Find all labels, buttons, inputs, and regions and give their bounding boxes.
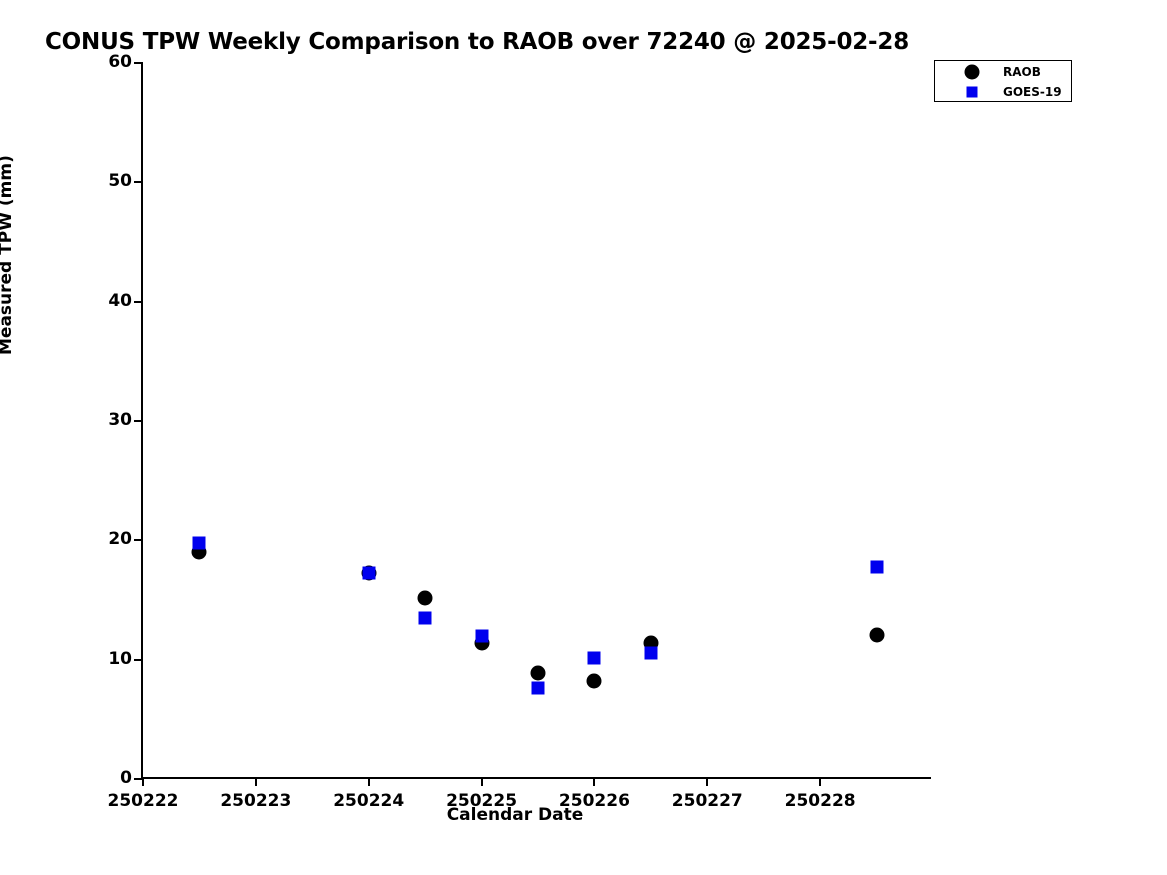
y-axis-label: Measured TPW (mm) xyxy=(0,155,16,355)
x-axis-tick-label: 250227 xyxy=(672,791,743,811)
data-point-goes-19 xyxy=(193,536,206,549)
y-axis-tick xyxy=(134,181,143,183)
x-axis-tick xyxy=(819,777,821,786)
y-axis-tick-label: 40 xyxy=(88,291,132,311)
data-point-goes-19 xyxy=(644,646,657,659)
data-point-goes-19 xyxy=(475,629,488,642)
x-axis-tick xyxy=(593,777,595,786)
data-point-goes-19 xyxy=(362,566,375,579)
x-axis-tick-label: 250226 xyxy=(559,791,630,811)
square-marker-icon xyxy=(957,82,987,102)
x-axis-tick xyxy=(368,777,370,786)
y-axis-tick-label: 20 xyxy=(88,529,132,549)
y-axis-tick-label: 60 xyxy=(88,52,132,72)
x-axis-tick-label: 250223 xyxy=(220,791,291,811)
data-point-goes-19 xyxy=(870,560,883,573)
data-point-goes-19 xyxy=(532,682,545,695)
data-point-raob xyxy=(418,590,433,605)
legend-label: RAOB xyxy=(1003,62,1041,82)
x-axis-tick-label: 250224 xyxy=(333,791,404,811)
y-axis-tick xyxy=(134,301,143,303)
x-axis-tick-label: 250222 xyxy=(108,791,179,811)
legend-swatch xyxy=(965,65,980,80)
data-point-raob xyxy=(531,665,546,680)
plot-canvas xyxy=(143,63,933,779)
legend-swatch xyxy=(967,87,978,98)
legend-item-goes-19[interactable]: GOES-19 xyxy=(935,82,1071,102)
y-axis-tick xyxy=(134,420,143,422)
x-axis-tick-label: 250225 xyxy=(446,791,517,811)
chart-legend: RAOBGOES-19 xyxy=(934,60,1072,102)
data-point-raob xyxy=(587,674,602,689)
legend-label: GOES-19 xyxy=(1003,82,1062,102)
data-point-goes-19 xyxy=(588,652,601,665)
x-axis-tick xyxy=(481,777,483,786)
y-axis-tick-label: 10 xyxy=(88,649,132,669)
x-axis-tick xyxy=(706,777,708,786)
data-point-raob xyxy=(869,627,884,642)
y-axis-tick xyxy=(134,539,143,541)
y-axis-tick xyxy=(134,659,143,661)
x-axis-tick-label: 250228 xyxy=(785,791,856,811)
plot-area: 0102030405060250222250223250224250225250… xyxy=(141,63,931,779)
chart-container: CONUS TPW Weekly Comparison to RAOB over… xyxy=(0,0,1167,875)
y-axis-tick-label: 50 xyxy=(88,171,132,191)
y-axis-tick xyxy=(134,62,143,64)
data-point-goes-19 xyxy=(419,611,432,624)
legend-item-raob[interactable]: RAOB xyxy=(935,62,1071,82)
y-axis-tick-label: 30 xyxy=(88,410,132,430)
x-axis-tick xyxy=(255,777,257,786)
x-axis-tick xyxy=(142,777,144,786)
y-axis-tick-label: 0 xyxy=(88,768,132,788)
chart-title: CONUS TPW Weekly Comparison to RAOB over… xyxy=(45,29,909,55)
circle-marker-icon xyxy=(957,62,987,82)
